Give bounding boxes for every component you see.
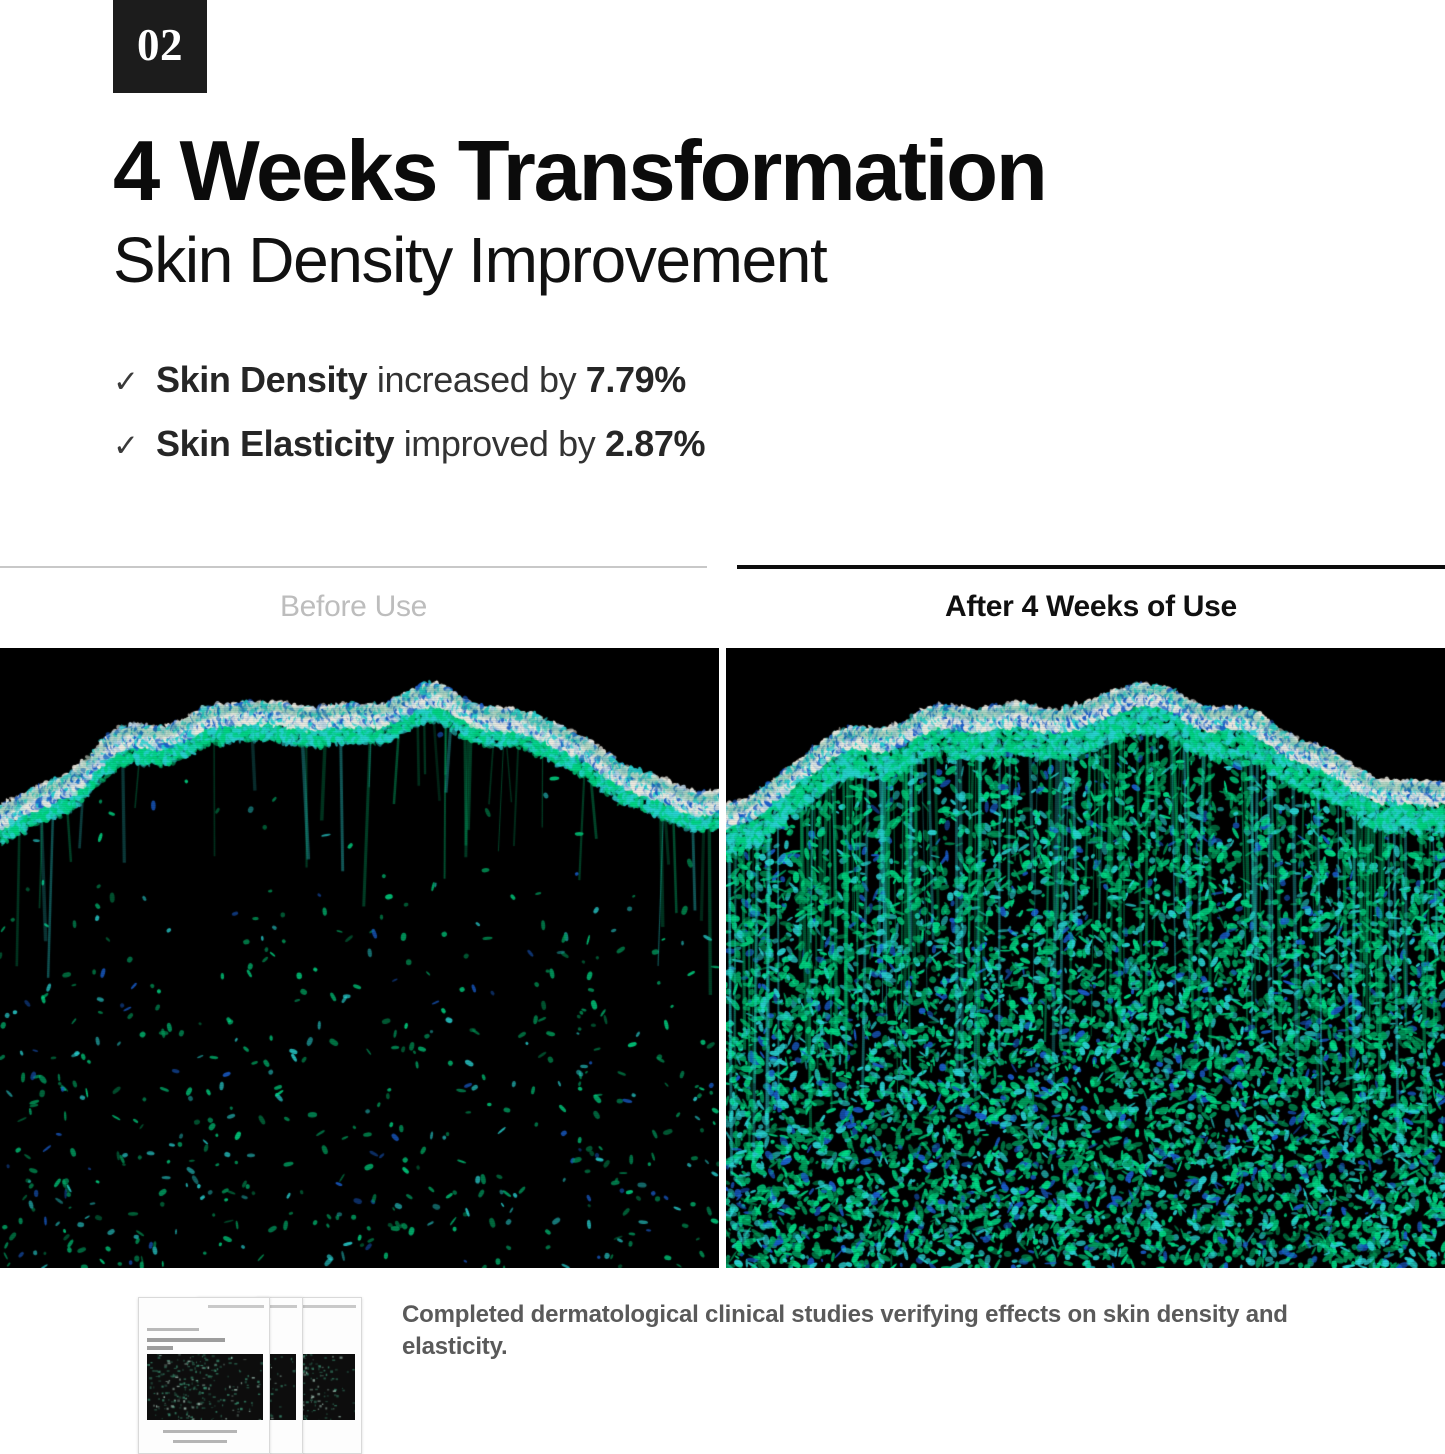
page-title: 4 Weeks Transformation bbox=[113, 129, 1046, 214]
check-icon: ✓ bbox=[113, 430, 139, 461]
divider-after bbox=[737, 565, 1445, 569]
label-before-use: Before Use bbox=[0, 590, 707, 624]
label-after-use: After 4 Weeks of Use bbox=[737, 590, 1445, 624]
report-header-line bbox=[294, 1305, 356, 1308]
step-badge: 02 bbox=[113, 0, 207, 93]
step-number: 02 bbox=[137, 23, 183, 68]
clinical-report-thumbnail bbox=[138, 1297, 360, 1452]
footer-caption: Completed dermatological clinical studie… bbox=[402, 1299, 1377, 1363]
check-icon: ✓ bbox=[113, 366, 139, 397]
report-page-1 bbox=[138, 1297, 270, 1454]
benefit-value: 7.79% bbox=[586, 359, 686, 400]
skin-density-infographic: 02 4 Weeks Transformation Skin Density I… bbox=[0, 0, 1445, 1445]
report-text-line bbox=[147, 1328, 199, 1331]
benefit-text-density: Skin Density increased by 7.79% bbox=[156, 362, 686, 398]
page-subtitle: Skin Density Improvement bbox=[113, 228, 826, 292]
report-header-line bbox=[208, 1305, 264, 1308]
benefit-middle: improved by bbox=[394, 423, 605, 464]
list-item: ✓ Skin Density increased by 7.79% bbox=[113, 362, 705, 398]
report-footer-line bbox=[173, 1440, 227, 1443]
report-text-line bbox=[147, 1338, 225, 1342]
report-footer-line bbox=[163, 1430, 237, 1433]
benefit-text-elasticity: Skin Elasticity improved by 2.87% bbox=[156, 426, 705, 462]
benefit-value: 2.87% bbox=[605, 423, 705, 464]
list-item: ✓ Skin Elasticity improved by 2.87% bbox=[113, 426, 705, 462]
report-text-line bbox=[147, 1346, 173, 1350]
benefit-label: Skin Density bbox=[156, 359, 367, 400]
scan-image-before bbox=[0, 648, 719, 1268]
divider-before bbox=[0, 566, 707, 568]
scan-image-after bbox=[726, 648, 1445, 1268]
benefit-middle: increased by bbox=[367, 359, 586, 400]
benefit-label: Skin Elasticity bbox=[156, 423, 394, 464]
benefit-list: ✓ Skin Density increased by 7.79% ✓ Skin… bbox=[113, 362, 705, 490]
report-scan-thumb bbox=[147, 1354, 263, 1420]
comparison-images bbox=[0, 648, 1445, 1268]
